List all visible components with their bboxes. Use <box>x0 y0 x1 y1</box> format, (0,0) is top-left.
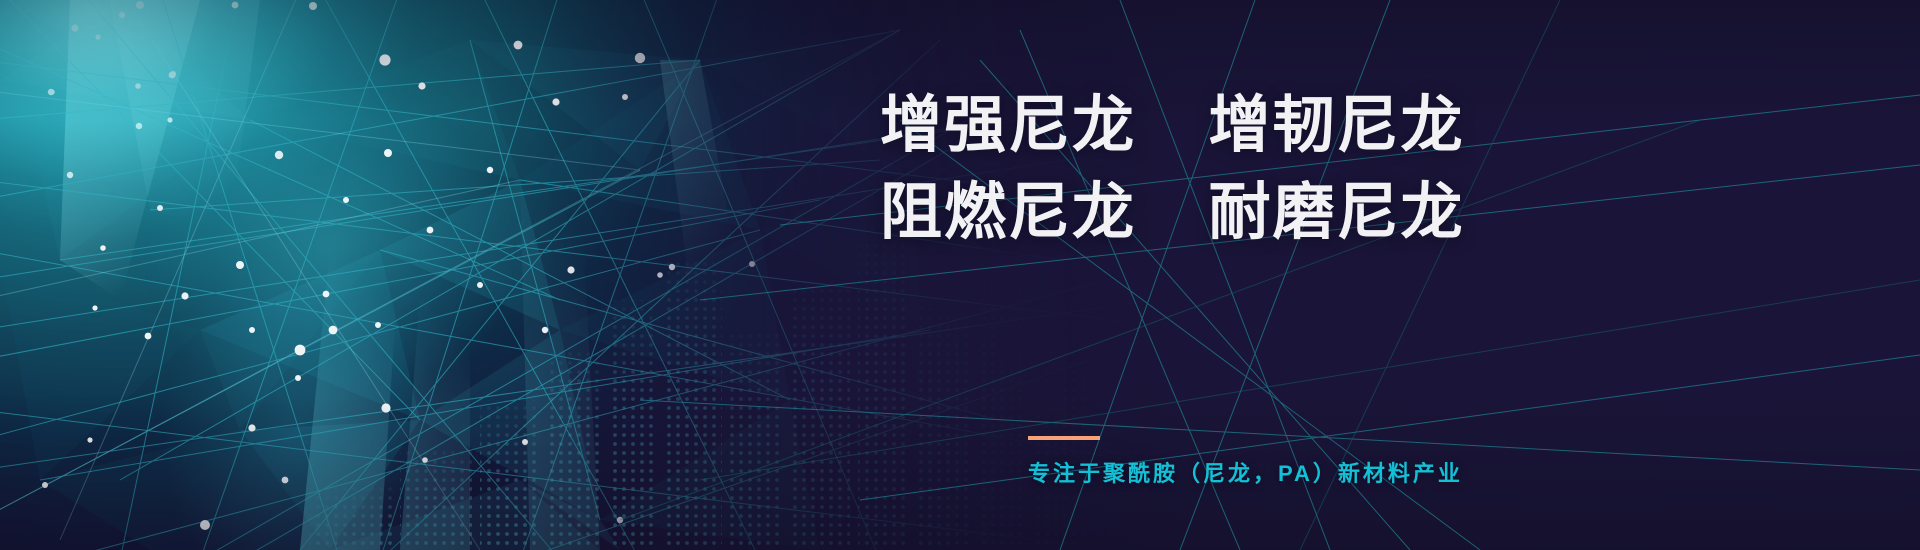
orange-divider <box>1028 436 1100 440</box>
headline-line1-part2: 增韧尼龙 <box>1208 91 1464 160</box>
headline-line2-part1: 阻燃尼龙 <box>880 178 1136 247</box>
headline-line1-part1: 增强尼龙 <box>880 91 1136 160</box>
banner-content: 增强尼龙 增韧尼龙 阻燃尼龙 耐磨尼龙 专注于聚酰胺（尼龙，PA）新材料产业 <box>880 0 1580 550</box>
headline-line-2: 阻燃尼龙 耐磨尼龙 <box>880 182 1465 244</box>
banner-subtitle: 专注于聚酰胺（尼龙，PA）新材料产业 <box>1028 456 1463 488</box>
headline-line2-part2: 耐磨尼龙 <box>1208 178 1464 247</box>
headline-line-1: 增强尼龙 增韧尼龙 <box>880 95 1465 157</box>
hero-banner: 增强尼龙 增韧尼龙 阻燃尼龙 耐磨尼龙 专注于聚酰胺（尼龙，PA）新材料产业 <box>0 0 1920 550</box>
